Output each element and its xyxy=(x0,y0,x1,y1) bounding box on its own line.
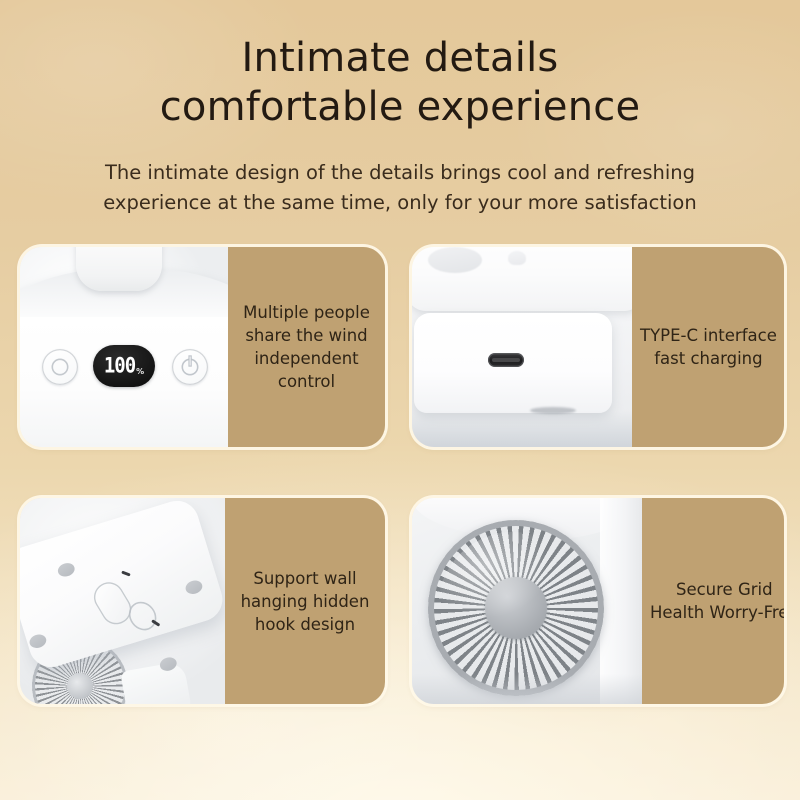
caption-text-2: TYPE-C interface fast charging xyxy=(640,324,777,370)
drop-shadow xyxy=(412,411,632,447)
type-c-illustration xyxy=(412,247,632,447)
caption-line: hook design xyxy=(241,613,370,636)
rubber-pad xyxy=(56,561,76,578)
header: Intimate details comfortable experience … xyxy=(0,34,800,218)
subtitle: The intimate design of the details bring… xyxy=(0,158,800,218)
drop-shadow xyxy=(412,674,642,704)
feature-card-type-c-fast-charging: TYPE-C interface fast charging xyxy=(412,247,784,447)
caption-line: Multiple people xyxy=(243,301,370,324)
photo-rear-panel-hook xyxy=(20,498,225,704)
page-title-line-2: comfortable experience xyxy=(0,83,800,132)
body-contour-left xyxy=(428,247,482,273)
fan-rear-housing xyxy=(20,498,225,673)
feature-card-grid: 100 % Multiple people share the wind ind… xyxy=(20,247,784,704)
caption-line: Health Worry-Free xyxy=(650,601,784,624)
caption-panel-2: TYPE-C interface fast charging xyxy=(632,247,784,447)
feature-card-wall-hanging-hook: Support wall hanging hidden hook design xyxy=(20,498,385,704)
rubber-pad xyxy=(28,633,48,650)
feature-card-multiple-people-share-wind: 100 % Multiple people share the wind ind… xyxy=(20,247,385,447)
caption-line: Secure Grid xyxy=(650,578,784,601)
feature-card-secure-grid: Secure Grid Health Worry-Free xyxy=(412,498,784,704)
rubber-pad xyxy=(184,579,204,596)
photo-protective-grille xyxy=(412,498,642,704)
caption-panel-1: Multiple people share the wind independe… xyxy=(228,247,385,447)
type-c-port-icon xyxy=(488,353,524,367)
control-panel-illustration: 100 % xyxy=(20,247,228,447)
caption-line: TYPE-C interface xyxy=(640,324,777,347)
hidden-hook-icon xyxy=(88,577,136,630)
led-percent-icon: % xyxy=(136,368,144,376)
hidden-hook-illustration xyxy=(20,498,225,704)
caption-text-4: Secure Grid Health Worry-Free xyxy=(650,578,784,624)
fan-upper-body xyxy=(412,247,632,311)
fan-neck xyxy=(76,247,162,291)
photo-fan-control-panel: 100 % xyxy=(20,247,228,447)
grille-hub xyxy=(485,577,547,639)
hook-detail-mark xyxy=(121,571,130,577)
speed-button[interactable] xyxy=(42,349,78,385)
grille-illustration xyxy=(412,498,642,704)
page-title-line-1: Intimate details xyxy=(0,34,800,83)
photo-type-c-port xyxy=(412,247,632,447)
power-button[interactable] xyxy=(172,349,208,385)
body-contour-center xyxy=(508,251,526,265)
caption-text-3: Support wall hanging hidden hook design xyxy=(241,567,370,636)
fan-grille-icon xyxy=(428,520,604,696)
caption-line: hanging hidden xyxy=(241,590,370,613)
product-feature-infographic: Intimate details comfortable experience … xyxy=(0,0,800,800)
caption-line: independent xyxy=(243,347,370,370)
caption-panel-3: Support wall hanging hidden hook design xyxy=(225,498,385,704)
fan-speed-icon xyxy=(52,359,69,376)
caption-text-1: Multiple people share the wind independe… xyxy=(243,301,370,393)
caption-line: share the wind xyxy=(243,324,370,347)
caption-line: Support wall xyxy=(241,567,370,590)
caption-panel-4: Secure Grid Health Worry-Free xyxy=(642,498,784,704)
led-display: 100 % xyxy=(93,345,155,387)
subtitle-line-1: The intimate design of the details bring… xyxy=(0,158,800,188)
caption-line: control xyxy=(243,370,370,393)
subtitle-line-2: experience at the same time, only for yo… xyxy=(0,188,800,218)
led-battery-value: 100 xyxy=(104,355,135,376)
fan-stand xyxy=(120,661,192,704)
caption-line: fast charging xyxy=(640,347,777,370)
power-icon xyxy=(182,359,199,376)
